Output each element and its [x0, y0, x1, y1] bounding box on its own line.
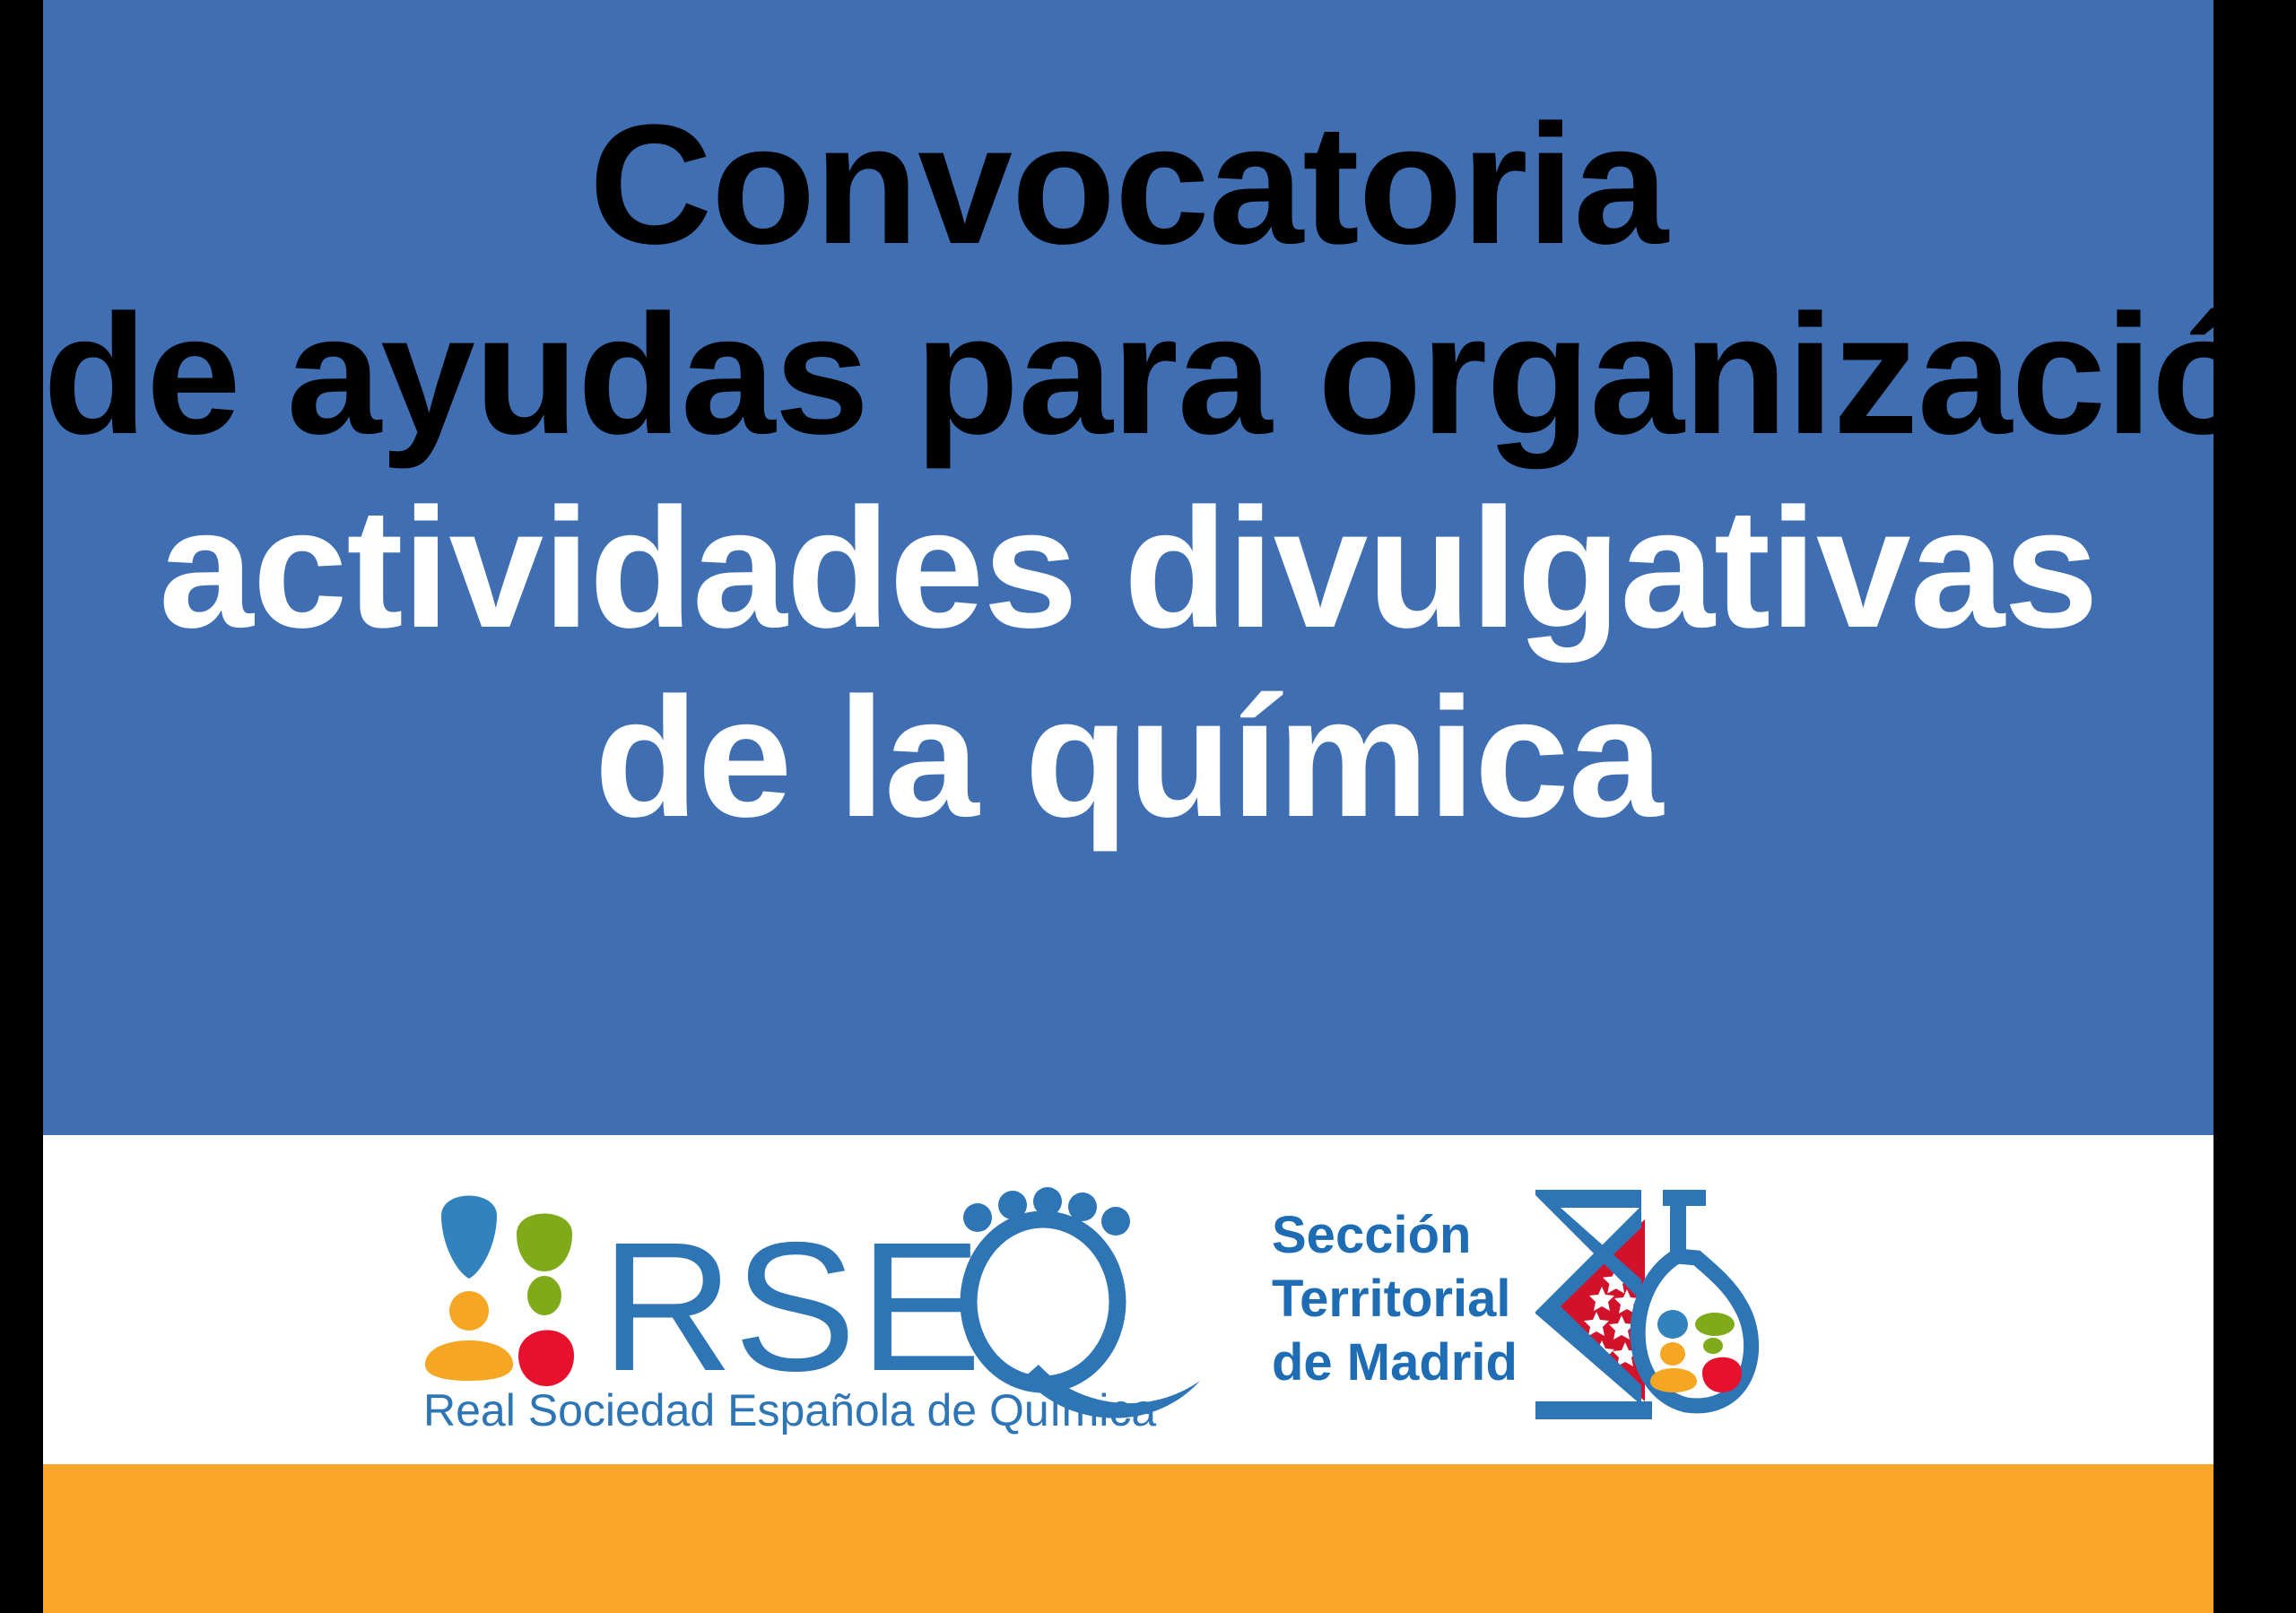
madrid-line-1: Sección [1272, 1204, 1518, 1268]
headline-line-1: Convocatoria [43, 99, 2213, 273]
headline-line-2: de ayudas para organización [43, 289, 2213, 463]
headline-line-4: de la química [43, 672, 2213, 846]
flask-molecule-icon [1650, 1310, 1742, 1392]
logo-band: R S E Real Sociedad Españo [43, 1135, 2213, 1464]
rseq-letters: R S E [601, 1204, 982, 1409]
rseq-logo: R S E Real Sociedad Españo [411, 1166, 1209, 1435]
footer-band [43, 1464, 2213, 1613]
anniversary-75-icon [1526, 1170, 1769, 1430]
headline-line-3: actividades divulgativas [43, 482, 2213, 656]
rseq-q-icon [963, 1187, 1200, 1418]
svg-text:S: S [734, 1204, 857, 1409]
madrid-line-2: Territorial [1272, 1268, 1518, 1331]
madrid-section-logo: Sección Territorial de Madrid [1272, 1166, 1846, 1435]
poster-root: Convocatoria de ayudas para organización… [0, 0, 2296, 1613]
rseq-tagline: Real Sociedad Española de Química [423, 1385, 1156, 1435]
madrid-section-text: Sección Territorial de Madrid [1272, 1204, 1518, 1394]
rseq-molecule-icon [425, 1195, 574, 1386]
hero-band: Convocatoria de ayudas para organización… [43, 0, 2213, 1135]
madrid-line-3: de Madrid [1272, 1331, 1518, 1395]
svg-text:R: R [601, 1204, 734, 1409]
